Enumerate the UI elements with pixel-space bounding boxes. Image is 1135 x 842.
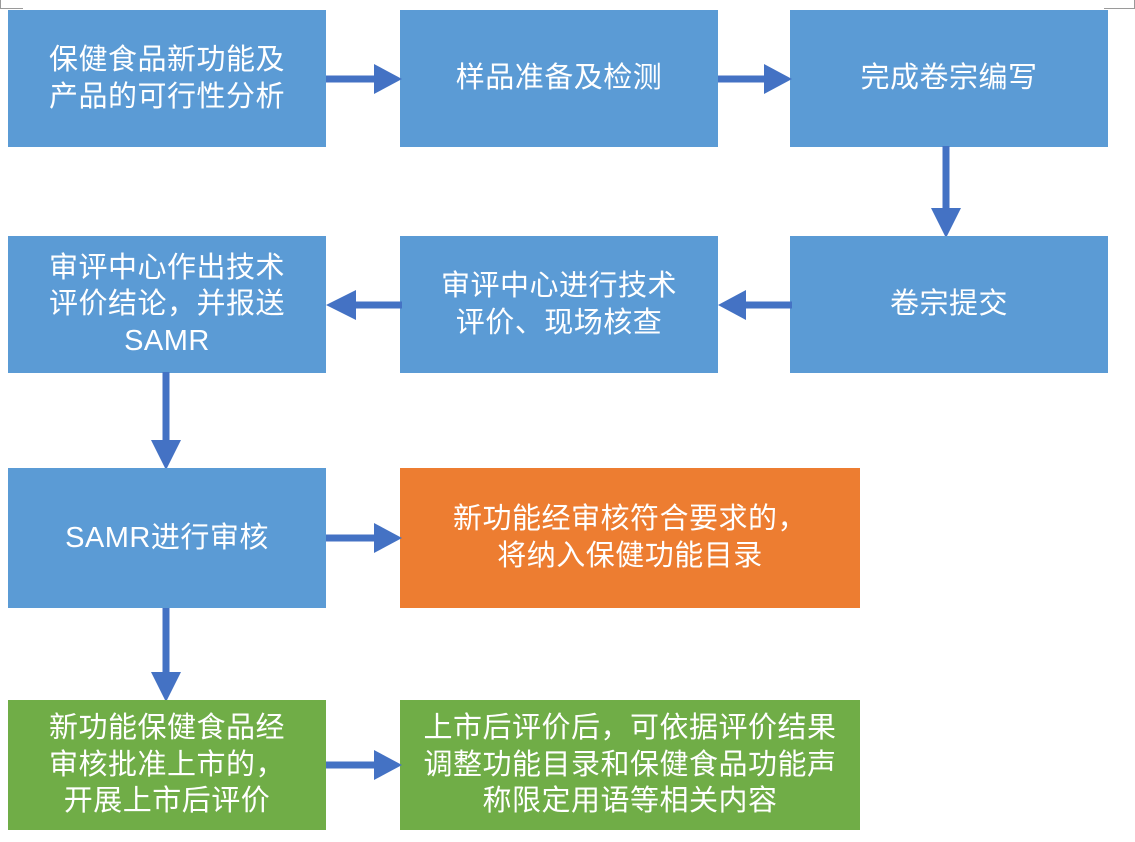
node-dossier-writing[interactable]: 完成卷宗编写 <box>790 10 1108 147</box>
arrow-feasibility-to-sample-test <box>326 62 402 96</box>
crop-mark-top-right <box>1104 0 1135 9</box>
node-tech-conclusion[interactable]: 审评中心作出技术 评价结论，并报送 SAMR <box>8 236 326 373</box>
node-dossier-submit[interactable]: 卷宗提交 <box>790 236 1108 373</box>
node-feasibility[interactable]: 保健食品新功能及 产品的可行性分析 <box>8 10 326 147</box>
node-catalog-adjust[interactable]: 上市后评价后，可依据评价结果 调整功能目录和保健食品功能声 称限定用语等相关内容 <box>400 700 860 830</box>
node-sample-test[interactable]: 样品准备及检测 <box>400 10 718 147</box>
arrow-tech-conclusion-to-samr-review <box>148 372 184 470</box>
arrow-post-market-eval-to-catalog-adjust <box>326 748 402 782</box>
node-post-market-eval[interactable]: 新功能保健食品经 审核批准上市的， 开展上市后评价 <box>8 700 326 830</box>
node-samr-review[interactable]: SAMR进行审核 <box>8 468 326 608</box>
arrow-samr-review-to-catalog-inclusion <box>326 521 402 555</box>
flowchart-canvas: 保健食品新功能及 产品的可行性分析 样品准备及检测 完成卷宗编写 审评中心作出技… <box>0 0 1135 842</box>
arrow-samr-review-to-post-market-eval <box>148 608 184 702</box>
arrow-tech-review-to-tech-conclusion <box>326 288 402 322</box>
crop-mark-top-left <box>0 0 23 9</box>
node-catalog-inclusion[interactable]: 新功能经审核符合要求的， 将纳入保健功能目录 <box>400 468 860 608</box>
arrow-dossier-submit-to-tech-review <box>718 288 792 322</box>
node-tech-review[interactable]: 审评中心进行技术 评价、现场核查 <box>400 236 718 373</box>
arrow-dossier-writing-to-dossier-submit <box>928 146 964 238</box>
arrow-sample-test-to-dossier-writing <box>718 62 792 96</box>
